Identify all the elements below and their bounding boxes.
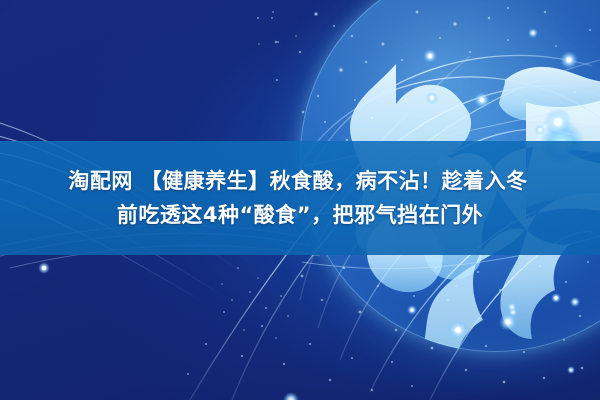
headline-line-1: 淘配网 【健康养生】秋食酸，病不沾！趁着入冬 <box>68 166 531 196</box>
banner-image: 淘配网 【健康养生】秋食酸，病不沾！趁着入冬 前吃透这4种“酸食”，把邪气挡在门… <box>0 0 600 400</box>
headline: 淘配网 【健康养生】秋食酸，病不沾！趁着入冬 前吃透这4种“酸食”，把邪气挡在门… <box>0 141 600 255</box>
headline-line-2: 前吃透这4种“酸食”，把邪气挡在门外 <box>117 200 483 230</box>
